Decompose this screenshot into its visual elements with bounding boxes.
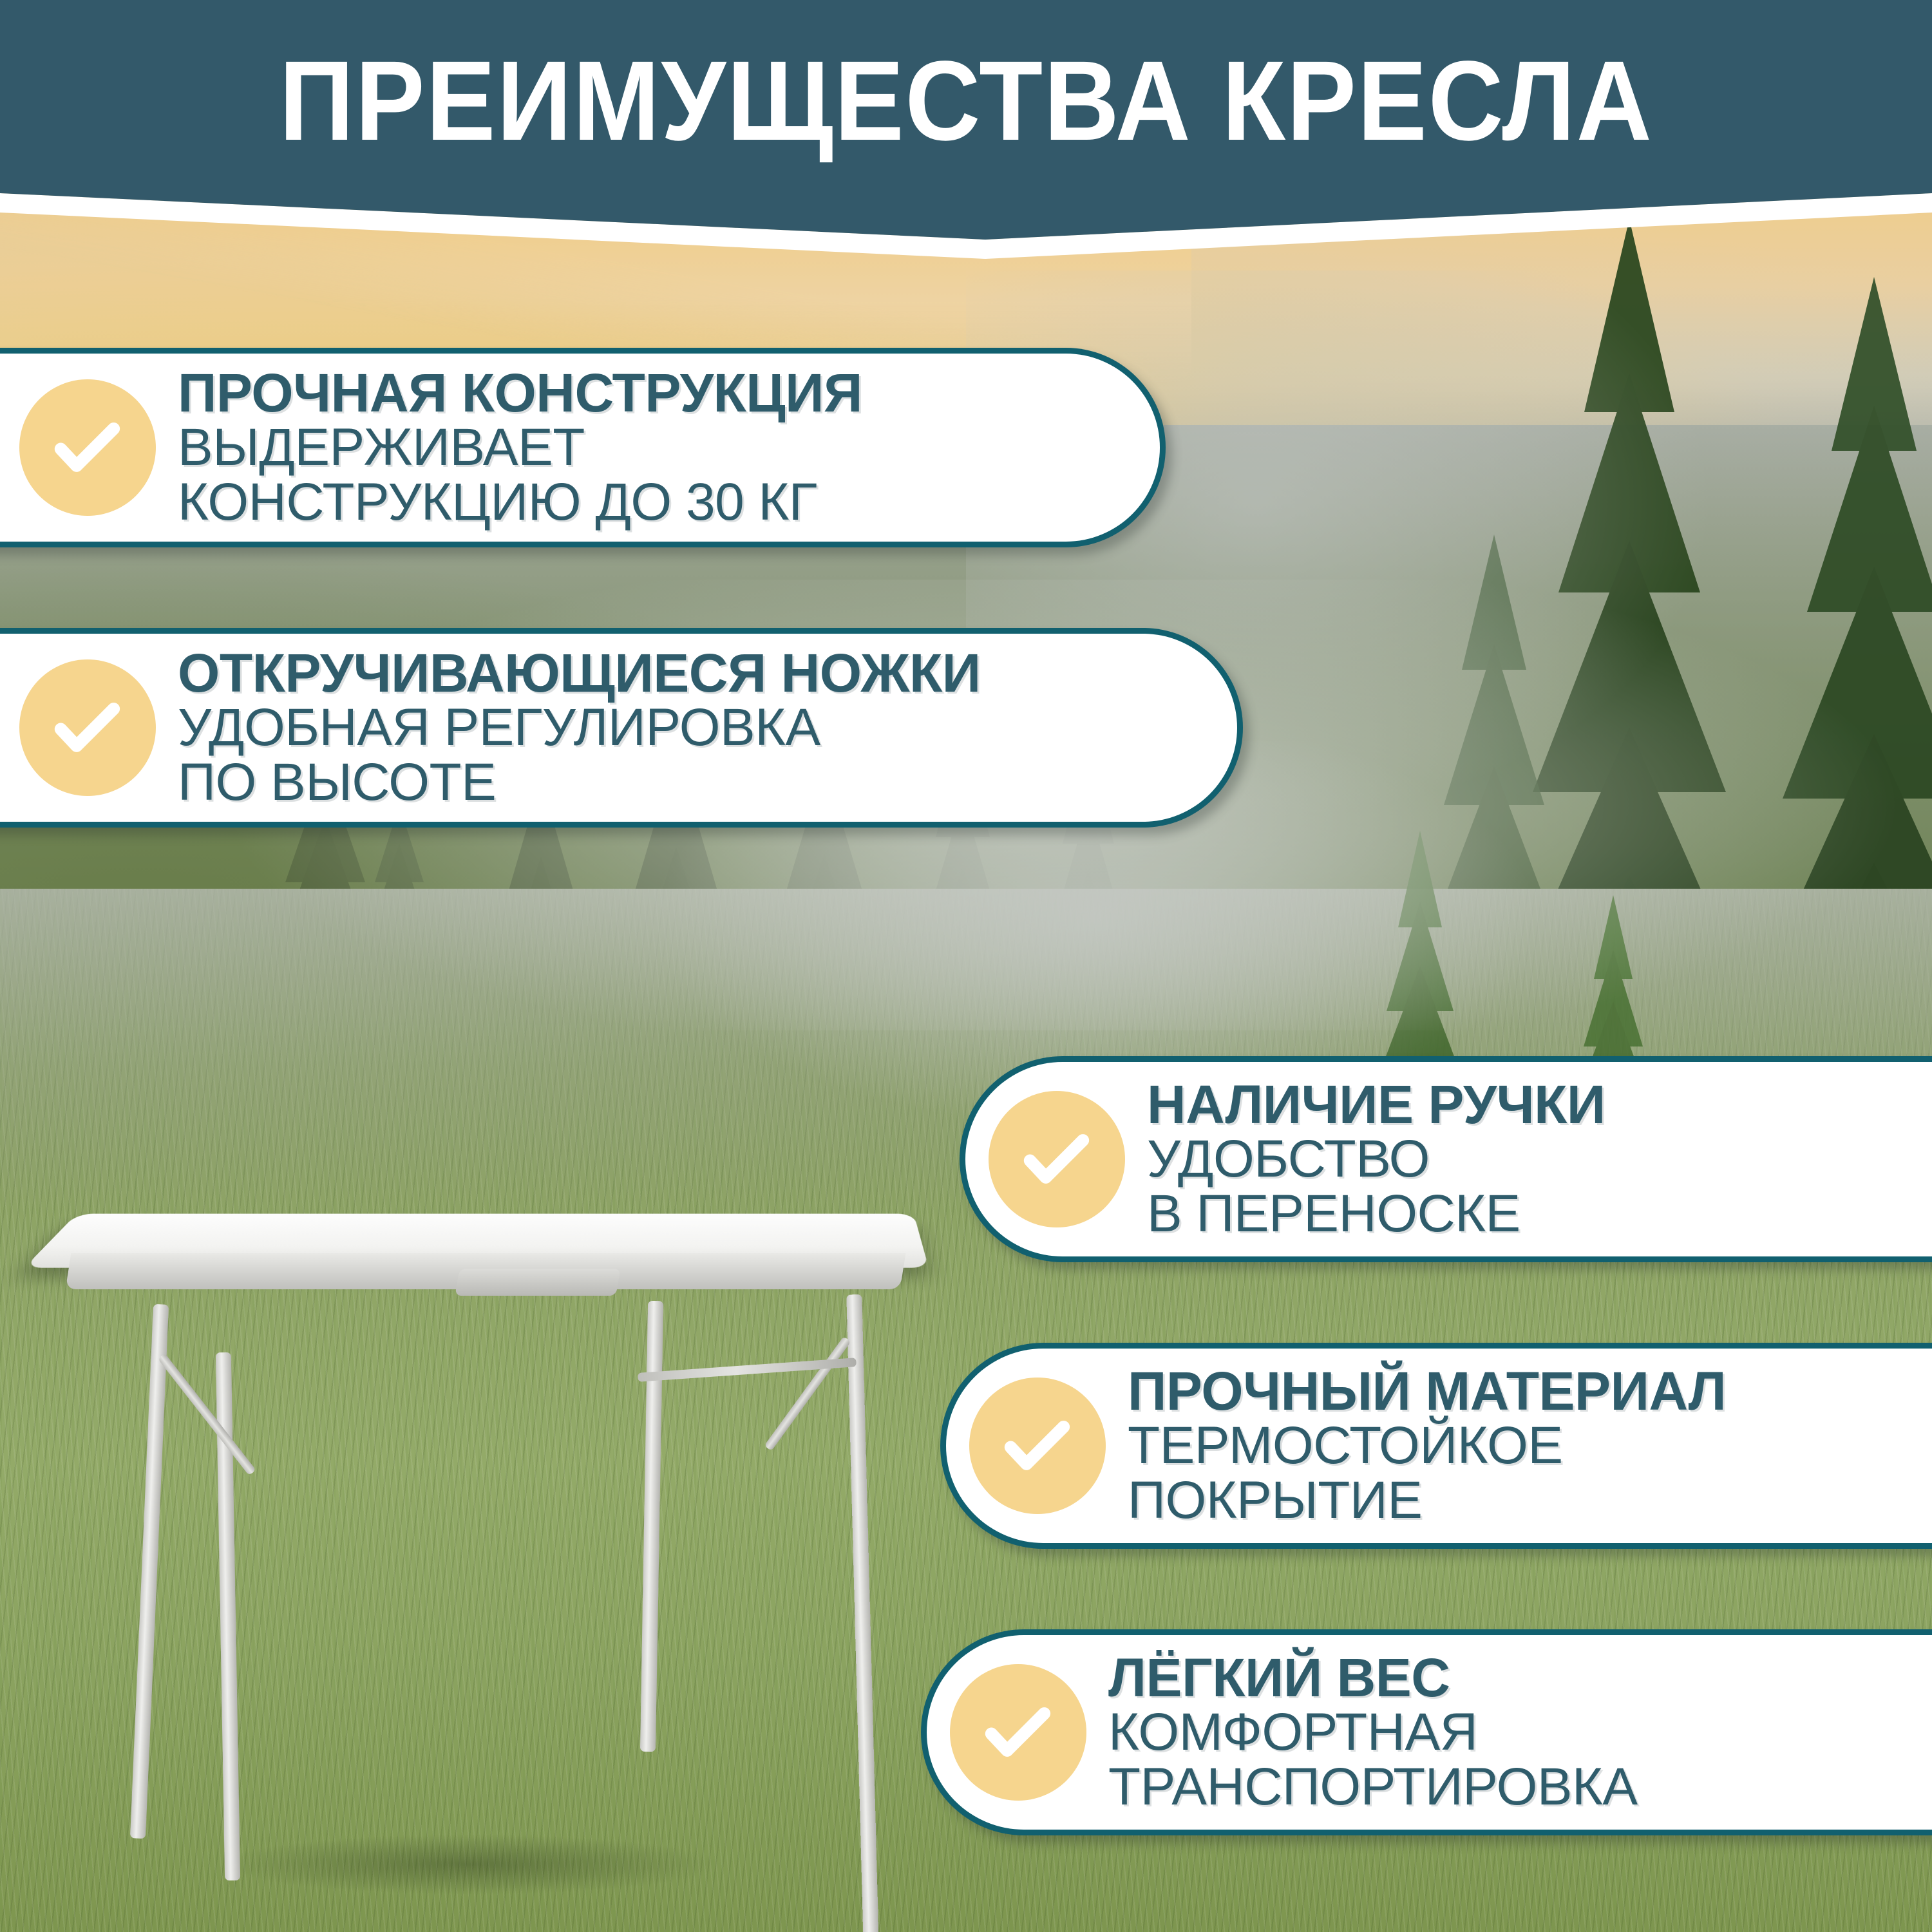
check-circle-icon [19, 379, 156, 516]
check-circle-icon [989, 1091, 1125, 1227]
feature-line-2: ВЫДЕРЖИВАЕТ [178, 420, 862, 475]
leg-brace [158, 1353, 256, 1475]
feature-line-2: УДОБСТВО [1147, 1132, 1605, 1186]
feature-line-2: УДОБНАЯ РЕГУЛИРОВКА [178, 700, 981, 755]
check-circle-icon [969, 1378, 1106, 1514]
feature-text-5: ЛЁГКИЙ ВЕС КОМФОРТНАЯ ТРАНСПОРТИРОВКА [1108, 1651, 1663, 1815]
table-leg [846, 1294, 879, 1932]
feature-line-2: ТЕРМОСТОЙКОЕ [1128, 1418, 1726, 1473]
feature-heading: ПРОЧНАЯ КОНСТРУКЦИЯ [178, 366, 862, 420]
feature-heading: НАЛИЧИЕ РУЧКИ [1147, 1077, 1605, 1132]
feature-line-3: ПО ВЫСОТЕ [178, 755, 981, 810]
feature-text-1: ПРОЧНАЯ КОНСТРУКЦИЯ ВЫДЕРЖИВАЕТ КОНСТРУК… [178, 366, 888, 530]
infographic-canvas: ПРЕИМУЩЕСТВА КРЕСЛА ПРОЧНАЯ КОНСТРУКЦИЯ … [0, 0, 1932, 1932]
feature-card-1[interactable]: ПРОЧНАЯ КОНСТРУКЦИЯ ВЫДЕРЖИВАЕТ КОНСТРУК… [0, 348, 1166, 547]
feature-card-4[interactable]: ПРОЧНЫЙ МАТЕРИАЛ ТЕРМОСТОЙКОЕ ПОКРЫТИЕ [940, 1343, 1932, 1549]
feature-card-5[interactable]: ЛЁГКИЙ ВЕС КОМФОРТНАЯ ТРАНСПОРТИРОВКА [921, 1629, 1932, 1835]
feature-heading: ЛЁГКИЙ ВЕС [1108, 1651, 1638, 1705]
feature-card-3[interactable]: НАЛИЧИЕ РУЧКИ УДОБСТВО В ПЕРЕНОСКЕ [960, 1056, 1932, 1262]
feature-line-3: ПОКРЫТИЕ [1128, 1473, 1726, 1528]
feature-text-3: НАЛИЧИЕ РУЧКИ УДОБСТВО В ПЕРЕНОСКЕ [1147, 1077, 1631, 1242]
table-leg [640, 1301, 663, 1752]
carry-handle [455, 1269, 620, 1296]
feature-line-3: ТРАНСПОРТИРОВКА [1108, 1759, 1638, 1814]
check-circle-icon [950, 1664, 1086, 1801]
feature-line-3: КОНСТРУКЦИЮ ДО 30 КГ [178, 475, 862, 529]
page-title: ПРЕИМУЩЕСТВА КРЕСЛА [77, 33, 1855, 169]
feature-line-2: КОМФОРТНАЯ [1108, 1705, 1638, 1759]
feature-text-4: ПРОЧНЫЙ МАТЕРИАЛ ТЕРМОСТОЙКОЕ ПОКРЫТИЕ [1128, 1364, 1752, 1528]
check-circle-icon [19, 659, 156, 796]
feature-line-3: В ПЕРЕНОСКЕ [1147, 1186, 1605, 1241]
feature-text-2: ОТКРУЧИВАЮЩИЕСЯ НОЖКИ УДОБНАЯ РЕГУЛИРОВК… [178, 646, 1007, 810]
feature-heading: ПРОЧНЫЙ МАТЕРИАЛ [1128, 1364, 1726, 1418]
leg-brace [764, 1336, 851, 1451]
product-image-folding-table [45, 1172, 966, 1906]
feature-card-2[interactable]: ОТКРУЧИВАЮЩИЕСЯ НОЖКИ УДОБНАЯ РЕГУЛИРОВК… [0, 628, 1243, 828]
table-leg [130, 1304, 169, 1839]
feature-heading: ОТКРУЧИВАЮЩИЕСЯ НОЖКИ [178, 646, 981, 700]
